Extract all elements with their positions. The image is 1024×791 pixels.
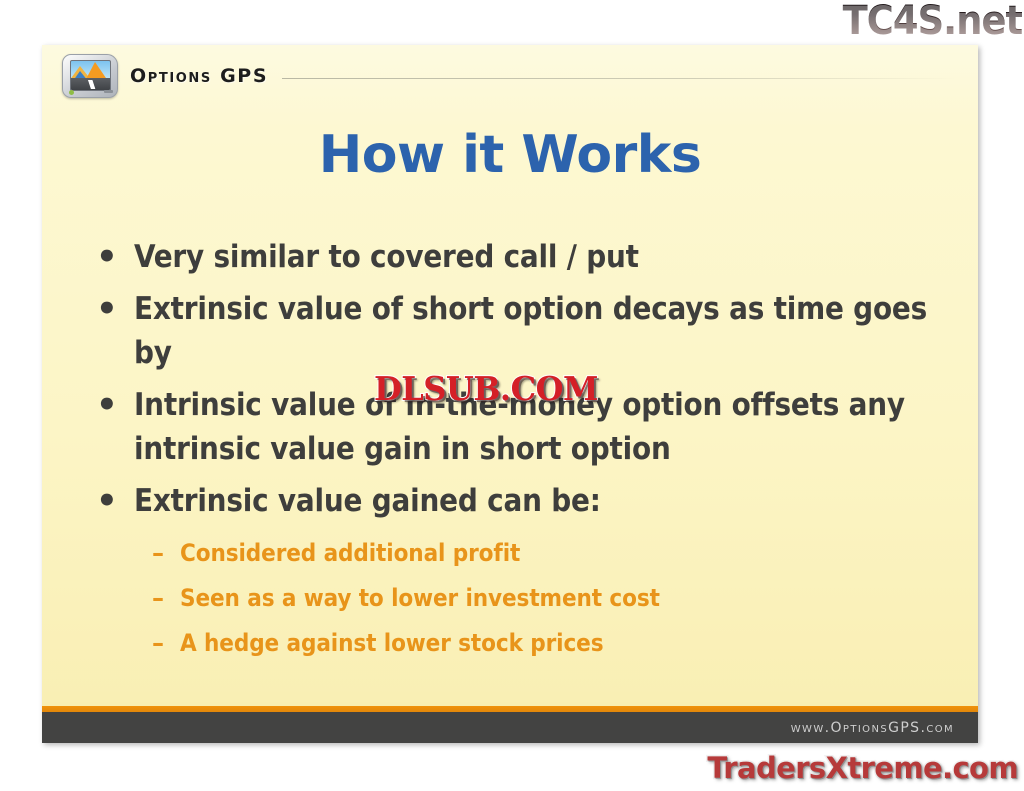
dlsub-watermark: DLSUB.COM <box>374 369 598 408</box>
device-port-icon <box>104 90 113 93</box>
header-divider <box>282 78 956 79</box>
bullet-text: Extrinsic value of short option decays a… <box>134 287 934 375</box>
bullet-marker: • <box>96 479 134 523</box>
bullet-marker: • <box>96 235 134 279</box>
bullet-list: • Very similar to covered call / put • E… <box>96 235 950 666</box>
list-item: • Very similar to covered call / put <box>96 235 950 279</box>
sub-bullet-text: Considered additional profit <box>180 531 520 575</box>
bullet-marker: • <box>96 383 134 427</box>
sub-bullet-marker: – <box>152 531 180 575</box>
sub-bullet-list: – Considered additional profit – Seen as… <box>152 531 950 665</box>
sub-list-item: – Seen as a way to lower investment cost <box>152 576 950 620</box>
sub-bullet-text: Seen as a way to lower investment cost <box>180 576 660 620</box>
bullet-text: Extrinsic value gained can be: <box>134 479 601 523</box>
brand-title: Options GPS <box>130 65 268 87</box>
list-item: • Extrinsic value gained can be: <box>96 479 950 523</box>
sub-list-item: – Considered additional profit <box>152 531 950 575</box>
slide-footer: www.OptionsGPS.com <box>42 712 978 743</box>
sub-bullet-marker: – <box>152 621 180 665</box>
gps-device-screen <box>70 60 111 91</box>
sub-bullet-marker: – <box>152 576 180 620</box>
road-shape <box>71 78 110 90</box>
tc4s-watermark: TC4S.net <box>842 0 1022 44</box>
tradersxtreme-watermark: TradersXtreme.com <box>707 751 1018 785</box>
bullet-marker: • <box>96 287 134 331</box>
list-item: • Extrinsic value of short option decays… <box>96 287 950 375</box>
page-title: How it Works <box>42 125 978 185</box>
slide-header: Options GPS <box>42 45 978 107</box>
footer-url: www.OptionsGPS.com <box>791 720 954 736</box>
sub-bullet-text: A hedge against lower stock prices <box>180 621 603 665</box>
sub-list-item: – A hedge against lower stock prices <box>152 621 950 665</box>
bullet-text: Very similar to covered call / put <box>134 235 639 279</box>
gps-device-icon <box>62 54 118 98</box>
led-indicator-icon <box>69 90 74 95</box>
